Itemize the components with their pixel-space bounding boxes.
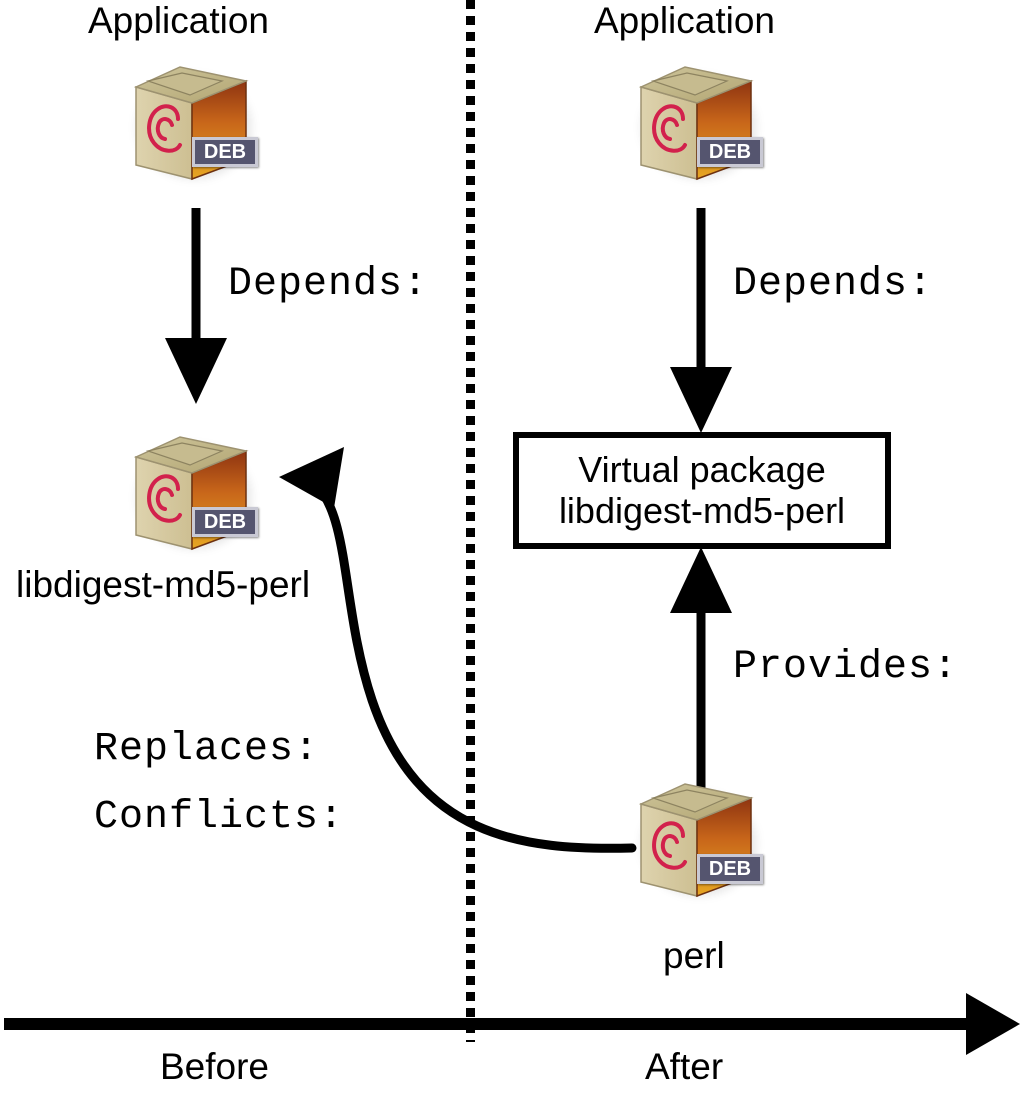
arrow-before-depends xyxy=(165,208,227,404)
replaces-label: Replaces: xyxy=(94,730,319,770)
before-after-divider xyxy=(466,0,475,1042)
arrow-provides xyxy=(670,547,732,790)
libdigest-md5-perl-package-label: libdigest-md5-perl xyxy=(16,566,310,603)
package-box-shape xyxy=(623,55,773,190)
package-box-shape xyxy=(118,425,268,560)
perl-package-label: perl xyxy=(663,937,725,974)
debian-package-icon-libdigest-md5-perl: DEB xyxy=(118,425,268,560)
package-box-shape xyxy=(623,772,773,907)
deb-badge: DEB xyxy=(192,137,258,167)
virtual-package-line2: libdigest-md5-perl xyxy=(519,491,885,531)
deb-badge: DEB xyxy=(192,507,258,537)
virtual-package-line1: Virtual package xyxy=(519,450,885,490)
after-application-label: Application xyxy=(594,2,775,39)
debian-package-icon-after-application: DEB xyxy=(623,55,773,190)
conflicts-label: Conflicts: xyxy=(94,798,344,838)
timeline-label-after: After xyxy=(645,1048,723,1085)
diagram-canvas: Application xyxy=(0,0,1024,1094)
debian-package-icon-perl: DEB xyxy=(623,772,773,907)
after-depends-label: Depends: xyxy=(733,265,933,305)
timeline-label-before: Before xyxy=(160,1048,269,1085)
virtual-package-box: Virtual package libdigest-md5-perl xyxy=(513,432,891,549)
arrow-after-depends xyxy=(670,208,732,433)
deb-badge: DEB xyxy=(697,854,763,884)
provides-label: Provides: xyxy=(733,648,958,688)
debian-package-icon-before-application: DEB xyxy=(118,55,268,190)
package-box-shape xyxy=(118,55,268,190)
before-depends-label: Depends: xyxy=(228,265,428,305)
deb-badge: DEB xyxy=(697,137,763,167)
before-application-label: Application xyxy=(88,2,269,39)
timeline-axis xyxy=(4,993,1020,1055)
